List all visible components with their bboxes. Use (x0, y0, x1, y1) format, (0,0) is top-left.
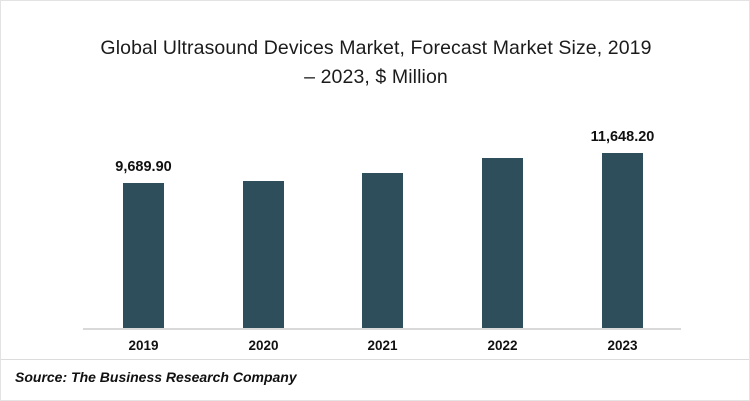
bar-2023 (602, 153, 643, 328)
x-tick-label-2023: 2023 (562, 338, 683, 353)
bar-2020 (243, 181, 284, 328)
x-axis-line (83, 328, 681, 330)
x-tick-label-2020: 2020 (203, 338, 324, 353)
plot-area: 9,689.90 11,648.20 2019 2020 2021 2022 2… (1, 1, 750, 401)
source-note: Source: The Business Research Company (15, 369, 297, 385)
x-tick-label-2019: 2019 (83, 338, 204, 353)
bar-2022 (482, 158, 523, 328)
bar-label-2023: 11,648.20 (562, 129, 683, 145)
x-tick-label-2021: 2021 (322, 338, 443, 353)
source-divider (1, 359, 749, 360)
bar-label-2019: 9,689.90 (83, 159, 204, 175)
bar-2019 (123, 183, 164, 328)
bar-2021 (362, 173, 403, 328)
x-tick-label-2022: 2022 (442, 338, 563, 353)
chart-figure: Global Ultrasound Devices Market, Foreca… (0, 0, 750, 401)
